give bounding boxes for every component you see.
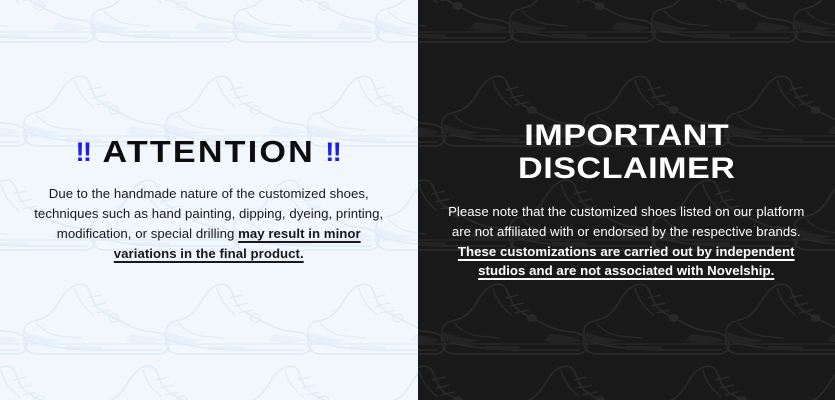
disclaimer-heading-line-2: DISCLAIMER <box>418 152 835 185</box>
disclaimer-body: Please note that the customized shoes li… <box>444 202 810 281</box>
disclaimer-content: IMPORTANT DISCLAIMER Please note that th… <box>418 119 835 281</box>
double-exclamation-icon-left: ‼ <box>75 138 92 166</box>
disclaimer-heading-line-1: IMPORTANT <box>418 119 835 152</box>
disclaimer-body-emphasis: These customizations are carried out by … <box>458 244 795 279</box>
disclaimer-banner: ‼ATTENTION‼ Due to the handmade nature o… <box>0 0 835 400</box>
disclaimer-body-plain: Please note that the customized shoes li… <box>448 204 804 239</box>
attention-heading: ‼ATTENTION‼ <box>8 136 410 169</box>
disclaimer-panel: IMPORTANT DISCLAIMER Please note that th… <box>418 0 835 400</box>
disclaimer-heading: IMPORTANT DISCLAIMER <box>418 119 835 185</box>
attention-panel: ‼ATTENTION‼ Due to the handmade nature o… <box>0 0 418 400</box>
attention-body: Due to the handmade nature of the custom… <box>26 184 392 264</box>
attention-content: ‼ATTENTION‼ Due to the handmade nature o… <box>0 136 418 265</box>
attention-heading-text: ATTENTION <box>103 134 315 169</box>
double-exclamation-icon-right: ‼ <box>326 138 343 166</box>
